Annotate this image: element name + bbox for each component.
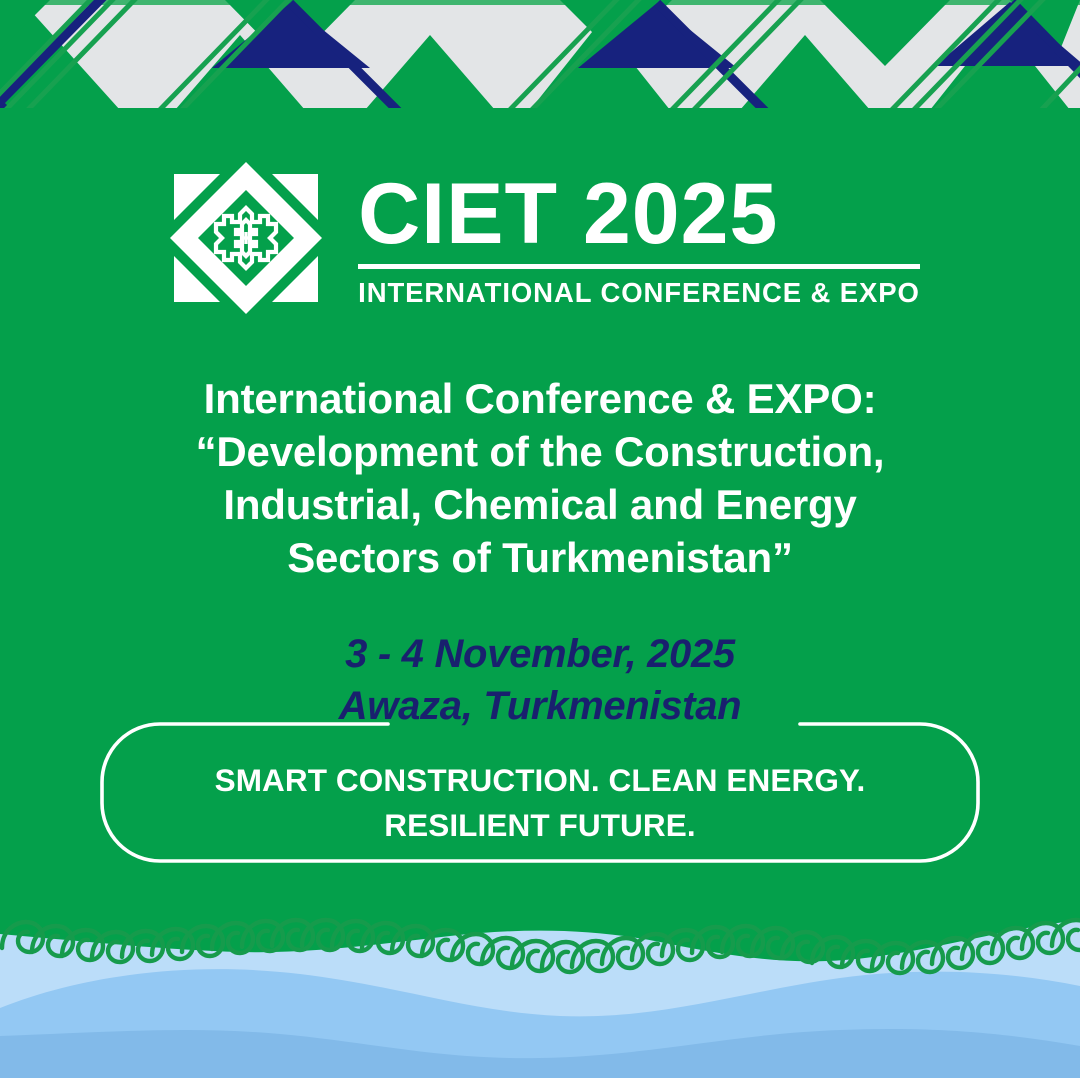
wordmark-subtitle: INTERNATIONAL CONFERENCE & EXPO xyxy=(358,277,920,309)
headline-line-1: International Conference & EXPO: xyxy=(60,372,1020,425)
headline-line-4: Sectors of Turkmenistan” xyxy=(60,531,1020,584)
wordmark: CIET 2025 INTERNATIONAL CONFERENCE & EXP… xyxy=(358,173,920,310)
turkmen-carpet-gul-emblem xyxy=(160,152,332,324)
event-location: Awaza, Turkmenistan xyxy=(60,680,1020,732)
ciet-logo: CIET 2025 INTERNATIONAL CONFERENCE & EXP… xyxy=(0,152,1080,324)
event-dates: 3 - 4 November, 2025 xyxy=(60,628,1020,680)
tagline-frame: SMART CONSTRUCTION. CLEAN ENERGY. RESILI… xyxy=(100,722,980,863)
tagline-text: SMART CONSTRUCTION. CLEAN ENERGY. RESILI… xyxy=(100,758,980,848)
caspian-wave-spiral-pattern xyxy=(0,900,1080,1078)
wordmark-divider xyxy=(358,264,920,269)
wordmark-title: CIET 2025 xyxy=(358,173,920,256)
turkmen-zigzag-border-pattern xyxy=(0,0,1080,122)
tagline-line-2: RESILIENT FUTURE. xyxy=(100,803,980,848)
event-date-location: 3 - 4 November, 2025 Awaza, Turkmenistan xyxy=(60,628,1020,732)
tagline-line-1: SMART CONSTRUCTION. CLEAN ENERGY. xyxy=(100,758,980,803)
headline-line-2: “Development of the Construction, xyxy=(60,425,1020,478)
headline-line-3: Industrial, Chemical and Energy xyxy=(60,478,1020,531)
poster-canvas: CIET 2025 INTERNATIONAL CONFERENCE & EXP… xyxy=(0,0,1080,1078)
conference-headline: International Conference & EXPO: “Develo… xyxy=(60,372,1020,584)
